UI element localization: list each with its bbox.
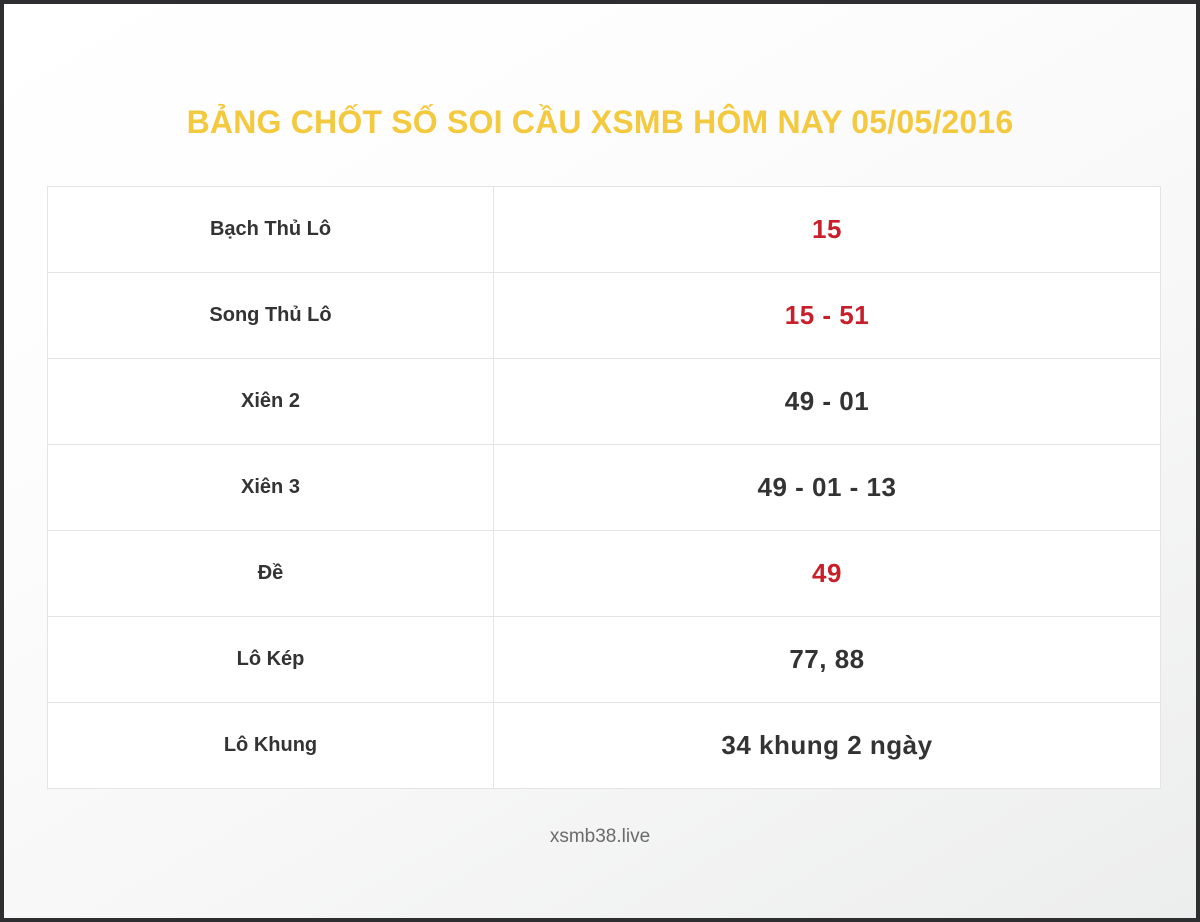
table-row: Bạch Thủ Lô15 [48, 187, 1160, 273]
row-label: Lô Kép [48, 617, 494, 702]
row-label: Đề [48, 531, 494, 616]
row-value: 34 khung 2 ngày [494, 703, 1160, 788]
row-value: 49 - 01 [494, 359, 1160, 444]
table-row: Xiên 249 - 01 [48, 359, 1160, 445]
row-value: 49 - 01 - 13 [494, 445, 1160, 530]
table-row: Đề49 [48, 531, 1160, 617]
table-row: Lô Kép77, 88 [48, 617, 1160, 703]
page-title: BẢNG CHỐT SỐ SOI CẦU XSMB HÔM NAY 05/05/… [4, 104, 1196, 141]
table-row: Xiên 349 - 01 - 13 [48, 445, 1160, 531]
row-label: Lô Khung [48, 703, 494, 788]
row-value: 77, 88 [494, 617, 1160, 702]
page-root: BẢNG CHỐT SỐ SOI CẦU XSMB HÔM NAY 05/05/… [0, 0, 1200, 922]
prediction-table: Bạch Thủ Lô15Song Thủ Lô15 - 51Xiên 249 … [47, 186, 1161, 789]
table-row: Lô Khung34 khung 2 ngày [48, 703, 1160, 789]
footer-site-label: xsmb38.live [4, 826, 1196, 848]
row-label: Song Thủ Lô [48, 273, 494, 358]
row-value: 15 - 51 [494, 273, 1160, 358]
row-label: Bạch Thủ Lô [48, 187, 494, 272]
row-value: 49 [494, 531, 1160, 616]
table-row: Song Thủ Lô15 - 51 [48, 273, 1160, 359]
row-label: Xiên 2 [48, 359, 494, 444]
row-value: 15 [494, 187, 1160, 272]
row-label: Xiên 3 [48, 445, 494, 530]
